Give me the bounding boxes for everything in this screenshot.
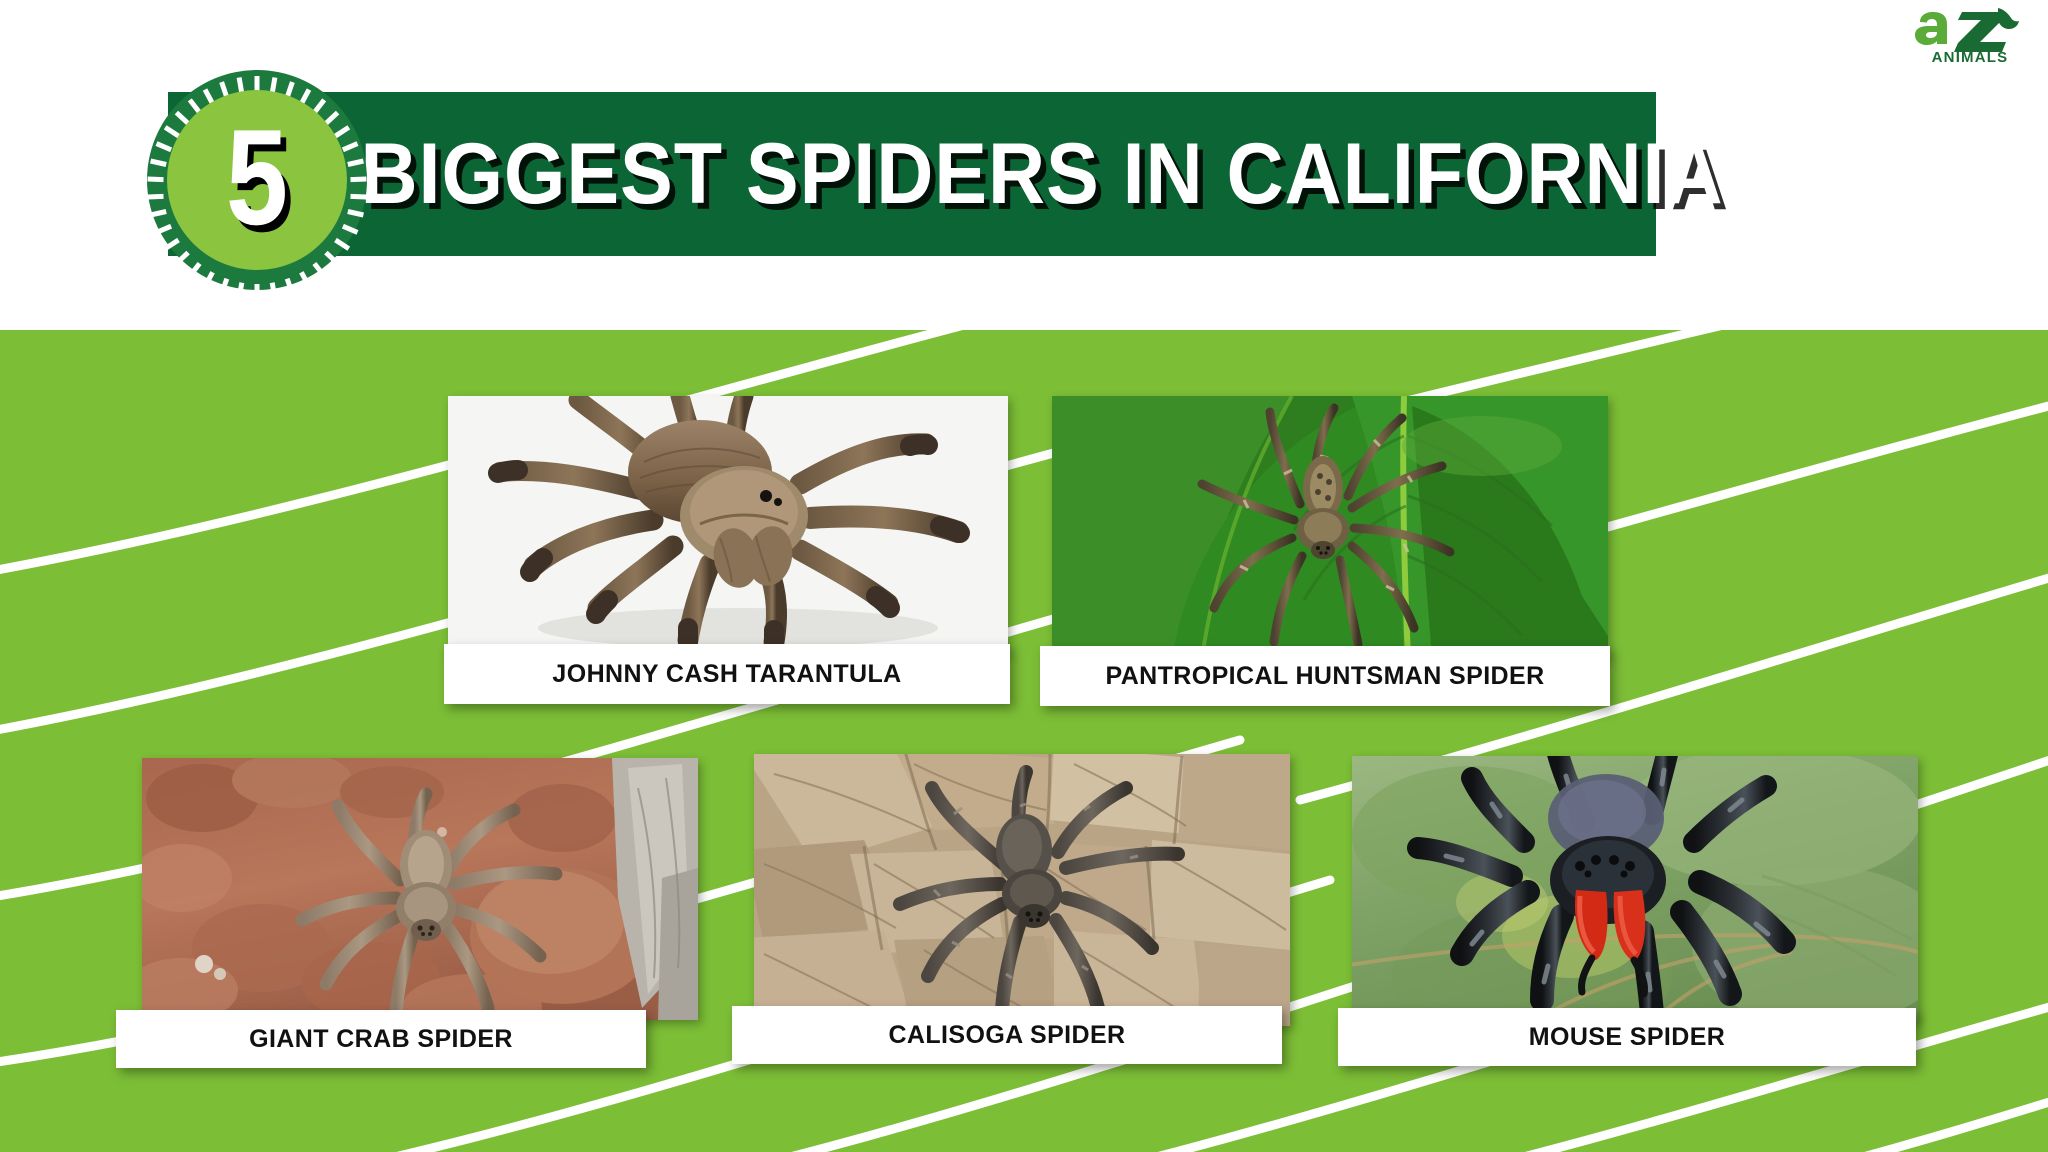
huntsman-photo-illustration: [1052, 396, 1608, 658]
card-pantropical-huntsman-spider[interactable]: PANTROPICAL HUNTSMAN SPIDER: [1048, 396, 1620, 722]
card-photo: [1352, 756, 1918, 1022]
card-giant-crab-spider[interactable]: GIANT CRAB SPIDER: [138, 758, 704, 1088]
card-johnny-cash-tarantula[interactable]: JOHNNY CASH TARANTULA: [444, 396, 1016, 722]
page-title: BIGGEST SPIDERS IN CALIFORNIA: [514, 92, 1570, 256]
card-calisoga-spider[interactable]: CALISOGA SPIDER: [750, 754, 1296, 1092]
card-label: JOHNNY CASH TARANTULA: [444, 644, 1010, 704]
card-label-text: JOHNNY CASH TARANTULA: [552, 660, 901, 689]
calisoga-photo-illustration: [754, 754, 1290, 1026]
card-label-text: CALISOGA SPIDER: [888, 1021, 1125, 1050]
crab-spider-photo-illustration: [142, 758, 698, 1020]
badge-number: 5: [157, 68, 357, 292]
card-photo: [142, 758, 698, 1020]
card-label: MOUSE SPIDER: [1338, 1008, 1916, 1066]
card-label: PANTROPICAL HUNTSMAN SPIDER: [1040, 646, 1610, 706]
tarantula-photo-illustration: [448, 396, 1008, 654]
content-area: JOHNNY CASH TARANTULA: [0, 330, 2048, 1152]
card-mouse-spider[interactable]: MOUSE SPIDER: [1348, 756, 1924, 1092]
card-label-text: MOUSE SPIDER: [1529, 1023, 1726, 1052]
az-logo-icon: [1910, 4, 2030, 52]
header-area: ANIMALS BIGGEST SPIDERS IN CALIFORNIA: [0, 0, 2048, 330]
brand-wordmark: ANIMALS: [1910, 50, 2030, 65]
card-label-text: PANTROPICAL HUNTSMAN SPIDER: [1105, 662, 1544, 691]
brand-logo[interactable]: ANIMALS: [1910, 4, 2030, 70]
mouse-spider-photo-illustration: [1352, 756, 1918, 1022]
card-photo: [1052, 396, 1608, 658]
card-photo: [754, 754, 1290, 1026]
card-label: GIANT CRAB SPIDER: [116, 1010, 646, 1068]
card-label-text: GIANT CRAB SPIDER: [249, 1025, 513, 1054]
number-badge: 5: [135, 68, 379, 292]
title-banner: BIGGEST SPIDERS IN CALIFORNIA: [168, 92, 1656, 256]
card-photo: [448, 396, 1008, 654]
card-label: CALISOGA SPIDER: [732, 1006, 1282, 1064]
